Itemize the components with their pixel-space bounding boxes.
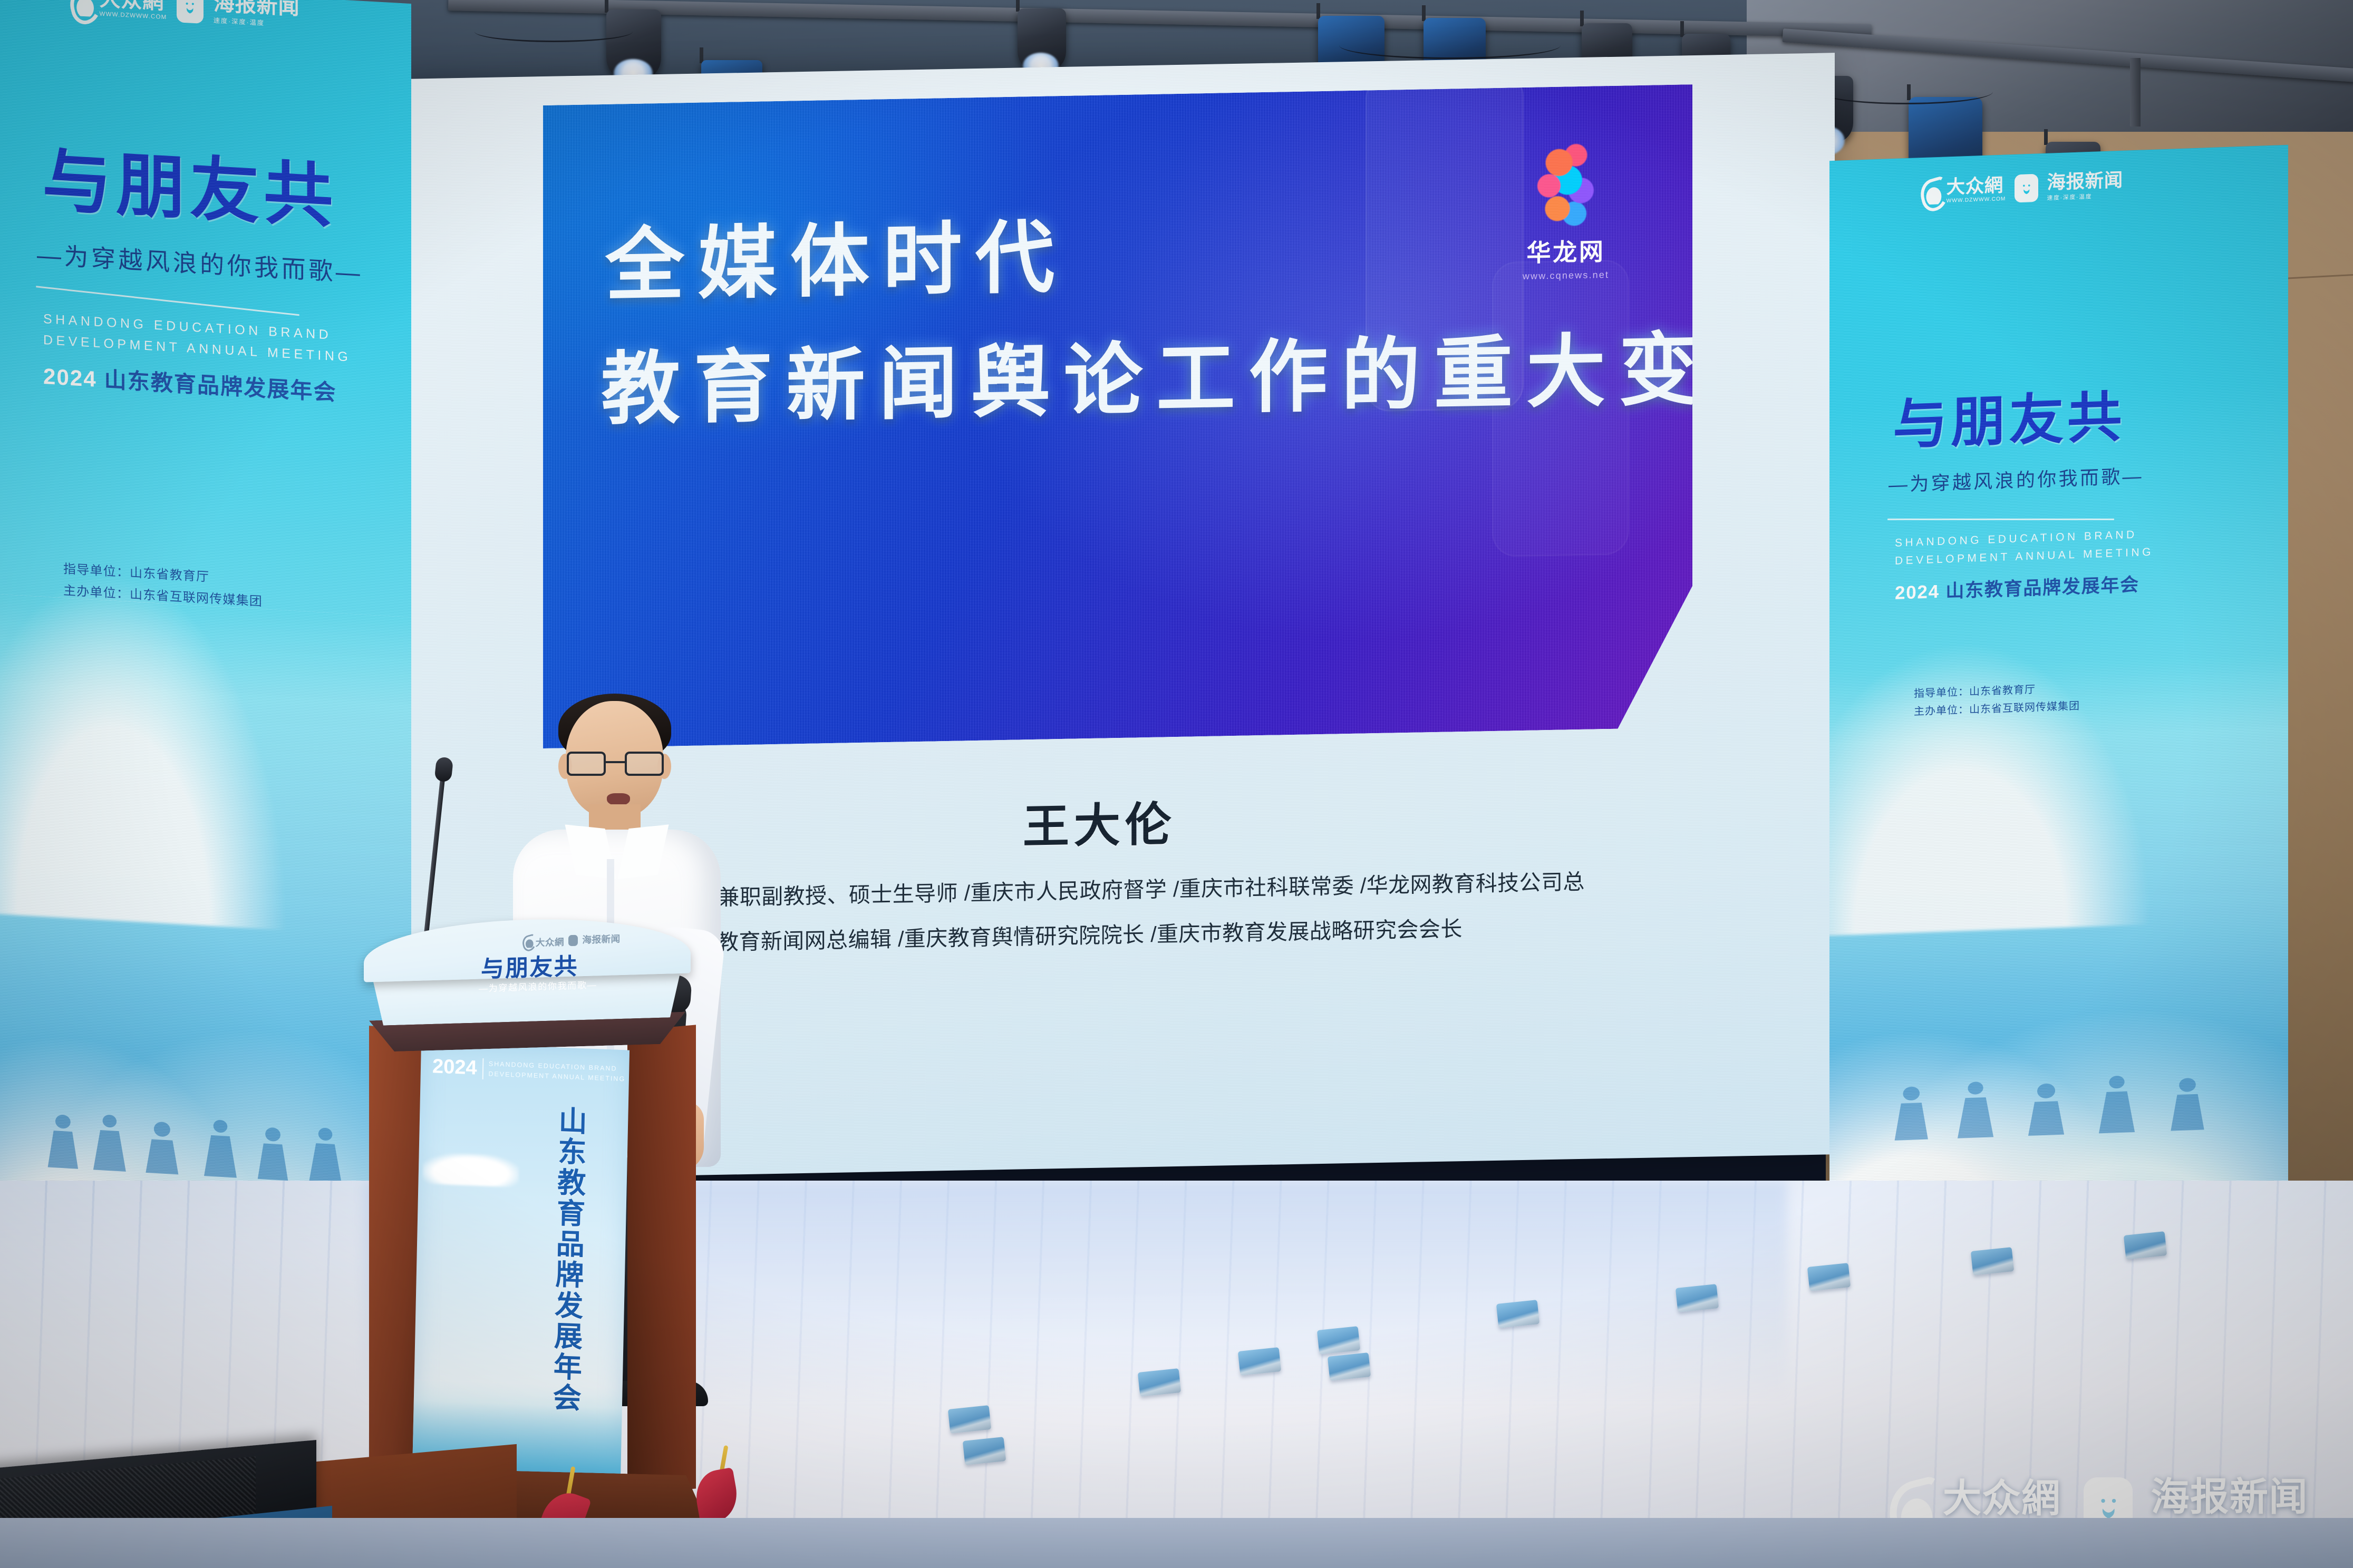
floor-monitor — [2124, 1231, 2167, 1260]
floor-monitor — [1496, 1300, 1539, 1328]
hualongwang-url: www.cqnews.net — [1503, 269, 1629, 282]
floor-monitor — [1317, 1326, 1360, 1355]
left-banner-year: 2024 — [43, 364, 97, 392]
right-banner-title: 与朋友共 — [1893, 372, 2125, 460]
speaker-credentials-line1: 学兼职副教授、硕士生导师 /重庆市人民政府督学 /重庆市社科联常委 /华龙网教育… — [696, 864, 1585, 912]
floor-monitor — [963, 1437, 1006, 1465]
dazhong-name: 大众網 — [536, 938, 564, 948]
flame-icon — [522, 935, 534, 948]
podium-side-right — [627, 1025, 696, 1494]
hualongwang-logo: 华龙网 www.cqnews.net — [1503, 138, 1629, 282]
cable — [475, 21, 633, 42]
mascot-face-icon — [2097, 1492, 2120, 1522]
right-banner-organizers: 指导单位：山东省教育厅 主办单位：山东省互联网传媒集团 — [1914, 679, 2080, 721]
floor-monitor — [1971, 1247, 2014, 1275]
flame-icon — [69, 0, 95, 17]
floor-monitor — [1328, 1352, 1371, 1381]
hualongwang-name: 华龙网 — [1503, 232, 1629, 269]
podium-front-panel: 2024 SHANDONG EDUCATION BRAND DEVELOPMEN… — [412, 1042, 630, 1506]
divider — [482, 1058, 483, 1079]
right-banner: 与朋友共 —为穿越风浪的你我而歌— SHANDONG EDUCATION BRA… — [1829, 145, 2288, 1268]
left-banner: 与朋友共 —为穿越风浪的你我而歌— SHANDONG EDUCATION BRA… — [0, 0, 411, 1337]
left-banner-title: 与朋友共 — [42, 124, 337, 241]
dazhong-logo: 大众網 WWW.DZWWW.COM — [69, 0, 167, 21]
floor-monitor — [1676, 1284, 1719, 1312]
dazhong-name: 大众網 — [1947, 176, 2006, 197]
dazhong-logo: 大众網 WWW.DZWWW.COM — [1919, 176, 2006, 205]
glasses-icon — [566, 752, 665, 776]
truss-drop — [2130, 58, 2141, 126]
haibao-name: 海报新闻 — [2151, 1477, 2308, 1517]
right-banner-year: 2024 — [1895, 581, 1940, 603]
floor-monitor — [948, 1405, 991, 1434]
floor-monitor — [1238, 1347, 1281, 1376]
podium-logo-lockup: 大众網 海报新闻 — [522, 932, 621, 948]
app-badge-icon — [568, 934, 578, 946]
right-banner-divider — [1887, 519, 2114, 520]
haibao-logo: 海报新闻 速度·深度·温度 — [2015, 170, 2123, 203]
podium-panel-header: 2024 SHANDONG EDUCATION BRAND DEVELOPMEN… — [432, 1055, 626, 1085]
dazhong-name: 大众網 — [1943, 1479, 2066, 1518]
floor-monitor — [1138, 1368, 1181, 1397]
speaker-name: 王大伦 — [1023, 787, 1176, 856]
haibao-name: 海报新闻 — [582, 934, 620, 945]
slide-title-line2: 教育新闻舆论工作的重大变局 — [601, 304, 1692, 440]
anthurium-flower — [696, 1470, 737, 1521]
podium-panel-year: 2024 — [432, 1055, 477, 1079]
cable — [1339, 32, 1561, 59]
podium-panel-vertical-title: 山东教育品牌发展年会 — [551, 1105, 592, 1414]
dazhong-logo: 大众網 — [522, 934, 564, 948]
haibao-name: 海报新闻 — [2047, 170, 2123, 192]
left-banner-subtitle: —为穿越风浪的你我而歌— — [37, 236, 363, 289]
app-badge-icon — [2015, 174, 2038, 203]
mascot-face-icon — [183, 0, 196, 16]
speaker-credentials-line2: 教育新闻网总编辑 /重庆教育舆情研究院院长 /重庆市教育发展战略研究会会长 — [717, 911, 1463, 956]
flower-petal — [692, 1467, 741, 1524]
wave-crest-graphic — [0, 379, 411, 939]
stage-front-edge — [0, 1518, 2353, 1568]
app-badge-icon — [177, 0, 204, 24]
slide-title-line1: 全媒体时代 — [605, 193, 1068, 316]
cloud-graphic — [422, 1152, 519, 1187]
flame-icon — [1919, 179, 1943, 205]
haibao-logo: 海报新闻 — [568, 933, 620, 946]
presentation-slide: 全媒体时代 教育新闻舆论工作的重大变局 华龙网 www.cqnews.net — [543, 84, 1692, 748]
stage-photo: 全媒体时代 教育新闻舆论工作的重大变局 华龙网 www.cqnews.net 王… — [0, 0, 2353, 1568]
floor-monitor — [1807, 1263, 1851, 1291]
mascot-face-icon — [2021, 181, 2032, 196]
cable — [1819, 79, 1993, 104]
dragon-logo-icon — [1524, 139, 1608, 229]
people-silhouette-graphic — [1866, 1068, 2252, 1145]
